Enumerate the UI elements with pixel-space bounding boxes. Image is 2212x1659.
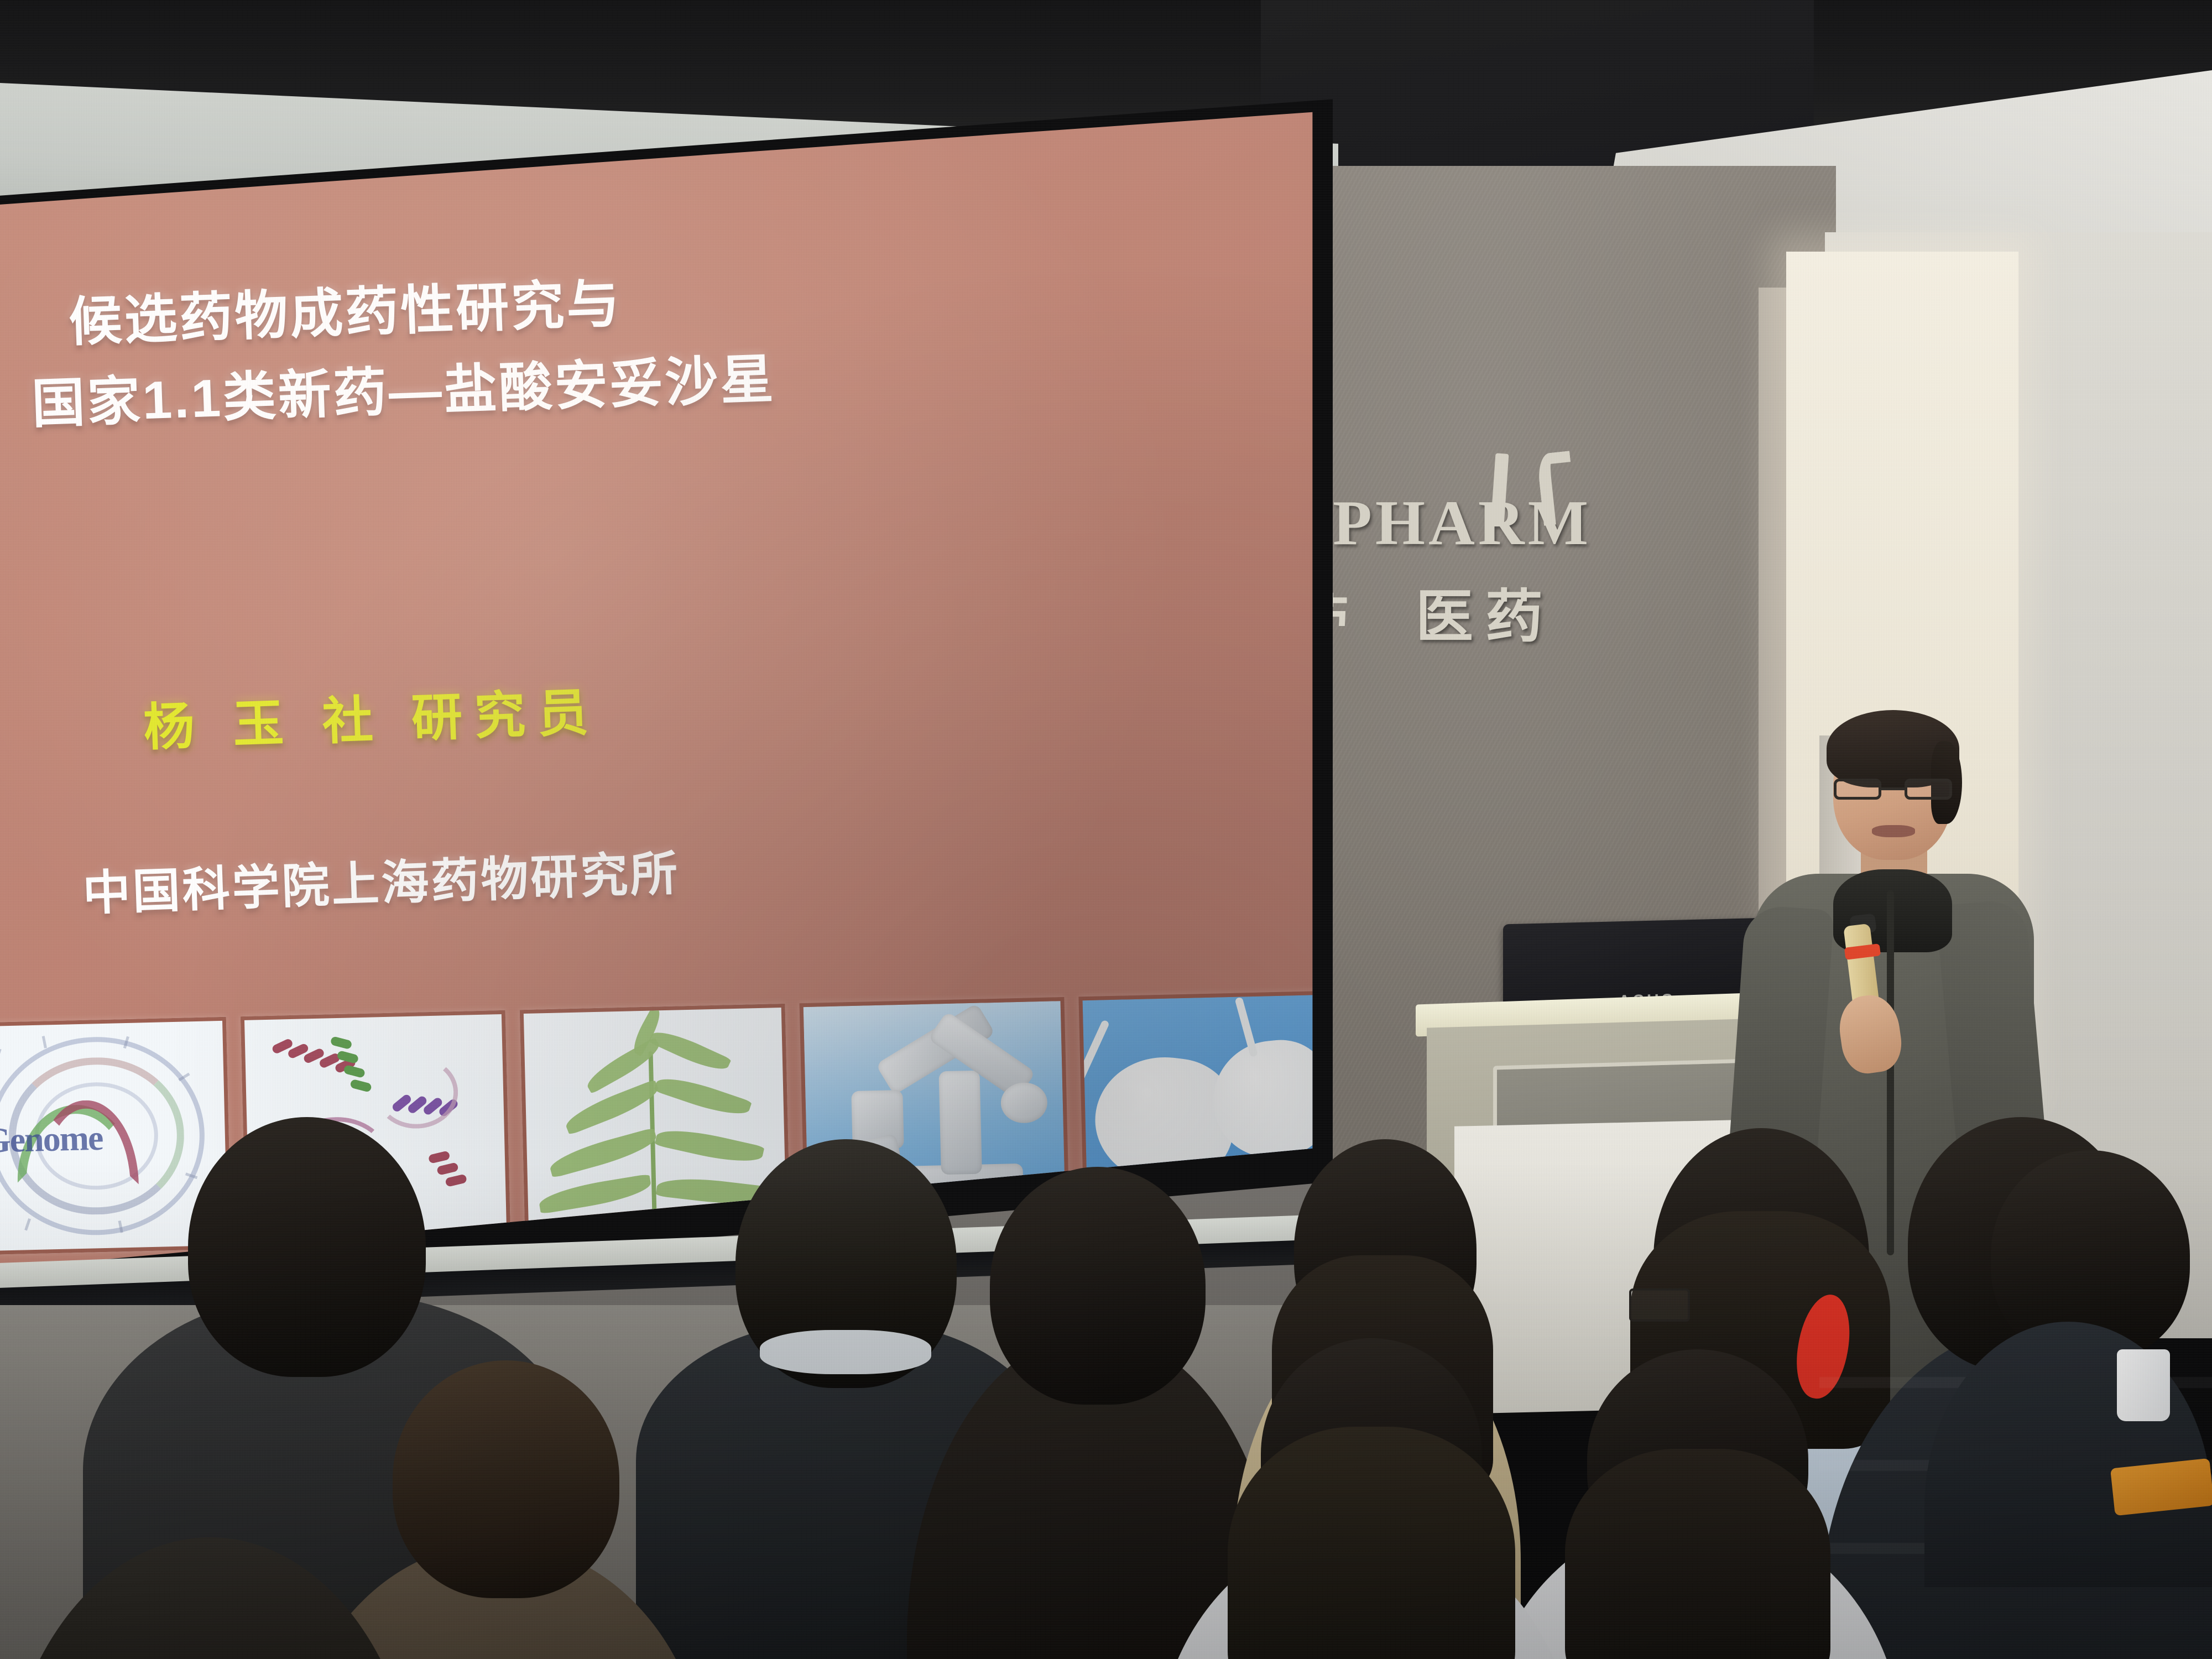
presenter-mouth <box>1872 825 1915 837</box>
audience-member-7-hair <box>1565 1449 1830 1659</box>
slide-affiliation: 中国科学院上海药物研究所 <box>81 816 1217 924</box>
audience-area <box>0 995 2212 1659</box>
audience-member-9-head <box>393 1360 619 1598</box>
wall-sign-chinese-text: 医药 <box>1416 570 1555 653</box>
paper-cup[interactable] <box>2117 1349 2170 1421</box>
glasses-icon <box>1834 779 1952 801</box>
audience-member-11 <box>0 1394 420 1659</box>
audience-member-8-hair <box>1228 1427 1515 1659</box>
slide-title: 候选药物成药性研究与 国家1.1类新药—盐酸安妥沙星 <box>67 244 1195 444</box>
lecture-hall-scene: PHARM 医药 药 候选药物成药性研究与 国家1.1类新药—盐酸安妥沙星 杨 … <box>0 0 2212 1659</box>
slide-presenter-name: 杨 玉 社 研究员 <box>142 651 1194 760</box>
slide-title-line-1: 候选药物成药性研究与 <box>68 274 623 352</box>
audience-member-8 <box>1156 1338 1576 1659</box>
glasses-icon <box>1629 1288 1690 1322</box>
orange-folder[interactable] <box>2110 1458 2212 1516</box>
wall-signage: PHARM 医药 药 <box>1316 487 1736 630</box>
audience-member-1-head <box>188 1117 426 1377</box>
audience-member-11-head-hair <box>0 1537 420 1659</box>
audience-member-2-collar <box>760 1330 931 1374</box>
